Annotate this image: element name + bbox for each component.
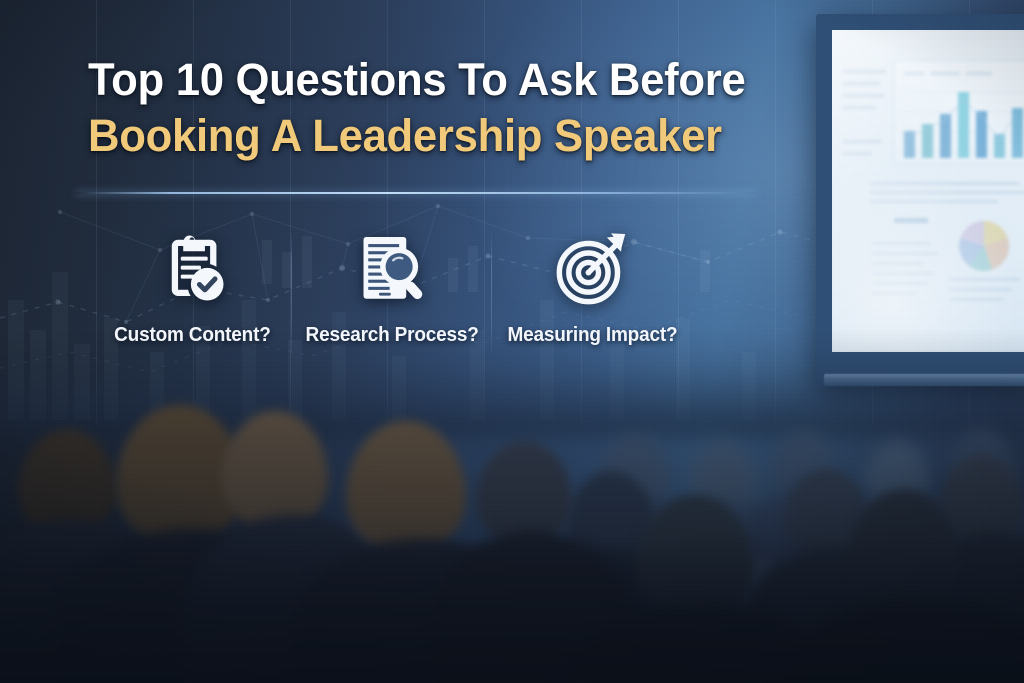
title-divider: [75, 192, 757, 194]
clipboard-check-icon: [149, 228, 235, 310]
feature-row: Custom Content?: [92, 228, 692, 363]
document-magnifier-icon: [349, 228, 435, 310]
page-title: Top 10 Questions To Ask Before Booking A…: [88, 57, 768, 158]
feature-measuring-impact: Measuring Impact?: [492, 228, 692, 347]
feature-label: Research Process?: [305, 324, 478, 347]
feature-label: Measuring Impact?: [507, 324, 677, 347]
headline-line-1: Top 10 Questions To Ask Before: [88, 57, 748, 102]
target-arrow-icon: [549, 228, 635, 310]
feature-label: Custom Content?: [114, 324, 271, 347]
headline-line-2: Booking A Leadership Speaker: [88, 113, 748, 158]
banner-image: Top 10 Questions To Ask Before Booking A…: [0, 0, 1024, 683]
feature-research-process: Research Process?: [292, 228, 492, 347]
feature-custom-content: Custom Content?: [92, 228, 292, 347]
